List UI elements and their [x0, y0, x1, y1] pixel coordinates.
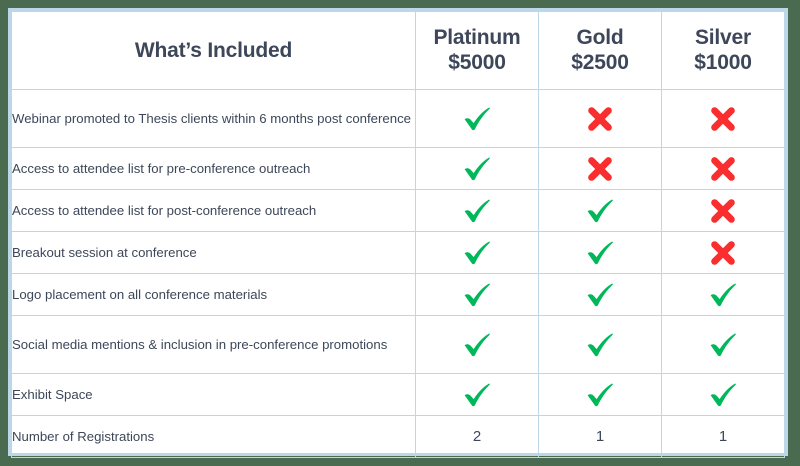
cell-excluded-cross: [662, 148, 785, 190]
cell-registration-count: 1: [539, 416, 662, 458]
cell-excluded-cross: [539, 90, 662, 148]
table-row: Exhibit Space: [12, 374, 785, 416]
table-header: What’s Included Platinum $5000 Gold $250…: [12, 12, 785, 90]
red-cross-icon: [708, 104, 738, 134]
feature-label: Number of Registrations: [12, 416, 416, 458]
tier-name-gold: Gold: [539, 26, 661, 50]
green-check-icon: [708, 380, 738, 410]
header-row: What’s Included Platinum $5000 Gold $250…: [12, 12, 785, 90]
red-cross-icon: [708, 196, 738, 226]
tier-price-platinum: $5000: [416, 51, 538, 75]
table-row: Breakout session at conference: [12, 232, 785, 274]
green-check-icon: [585, 238, 615, 268]
green-check-icon: [585, 280, 615, 310]
cell-included-check: [416, 148, 539, 190]
cell-included-check: [416, 90, 539, 148]
cell-included-check: [416, 232, 539, 274]
cell-excluded-cross: [662, 190, 785, 232]
green-check-icon: [462, 238, 492, 268]
cell-excluded-cross: [662, 232, 785, 274]
tier-price-gold: $2500: [539, 51, 661, 75]
tier-name-silver: Silver: [662, 26, 784, 50]
cell-included-check: [416, 190, 539, 232]
registration-count-value: 1: [719, 428, 727, 445]
cell-included-check: [662, 316, 785, 374]
cell-included-check: [416, 374, 539, 416]
tier-name-platinum: Platinum: [416, 26, 538, 50]
registration-count-value: 1: [596, 428, 604, 445]
cell-registration-count: 2: [416, 416, 539, 458]
cell-registration-count: 1: [662, 416, 785, 458]
feature-label: Social media mentions & inclusion in pre…: [12, 316, 416, 374]
table-row: Webinar promoted to Thesis clients withi…: [12, 90, 785, 148]
table-row: Number of Registrations211: [12, 416, 785, 458]
cell-included-check: [416, 274, 539, 316]
cell-included-check: [539, 190, 662, 232]
cell-included-check: [539, 274, 662, 316]
cell-included-check: [539, 316, 662, 374]
red-cross-icon: [708, 238, 738, 268]
table-body: Webinar promoted to Thesis clients withi…: [12, 90, 785, 458]
feature-label: Exhibit Space: [12, 374, 416, 416]
feature-label: Access to attendee list for post-confere…: [12, 190, 416, 232]
table-row: Access to attendee list for pre-conferen…: [12, 148, 785, 190]
red-cross-icon: [708, 154, 738, 184]
table-row: Access to attendee list for post-confere…: [12, 190, 785, 232]
green-check-icon: [462, 330, 492, 360]
tier-header-silver: Silver $1000: [662, 12, 785, 90]
tier-header-platinum: Platinum $5000: [416, 12, 539, 90]
registration-count-value: 2: [473, 428, 481, 445]
cell-excluded-cross: [539, 148, 662, 190]
tier-price-silver: $1000: [662, 51, 784, 75]
sponsorship-comparison-table: What’s Included Platinum $5000 Gold $250…: [11, 11, 785, 458]
green-check-icon: [585, 380, 615, 410]
green-check-icon: [708, 280, 738, 310]
feature-label: Access to attendee list for pre-conferen…: [12, 148, 416, 190]
green-check-icon: [708, 330, 738, 360]
green-check-icon: [462, 104, 492, 134]
feature-label: Webinar promoted to Thesis clients withi…: [12, 90, 416, 148]
green-check-icon: [585, 330, 615, 360]
green-check-icon: [462, 380, 492, 410]
cell-included-check: [416, 316, 539, 374]
green-check-icon: [462, 280, 492, 310]
table-row: Social media mentions & inclusion in pre…: [12, 316, 785, 374]
green-check-icon: [585, 196, 615, 226]
green-check-icon: [462, 196, 492, 226]
cell-included-check: [662, 374, 785, 416]
red-cross-icon: [585, 104, 615, 134]
red-cross-icon: [585, 154, 615, 184]
cell-included-check: [662, 274, 785, 316]
comparison-table-sheet: What’s Included Platinum $5000 Gold $250…: [8, 8, 788, 456]
cell-included-check: [539, 232, 662, 274]
feature-label: Logo placement on all conference materia…: [12, 274, 416, 316]
feature-label: Breakout session at conference: [12, 232, 416, 274]
cell-included-check: [539, 374, 662, 416]
feature-column-header: What’s Included: [12, 12, 416, 90]
green-check-icon: [462, 154, 492, 184]
table-row: Logo placement on all conference materia…: [12, 274, 785, 316]
tier-header-gold: Gold $2500: [539, 12, 662, 90]
cell-excluded-cross: [662, 90, 785, 148]
